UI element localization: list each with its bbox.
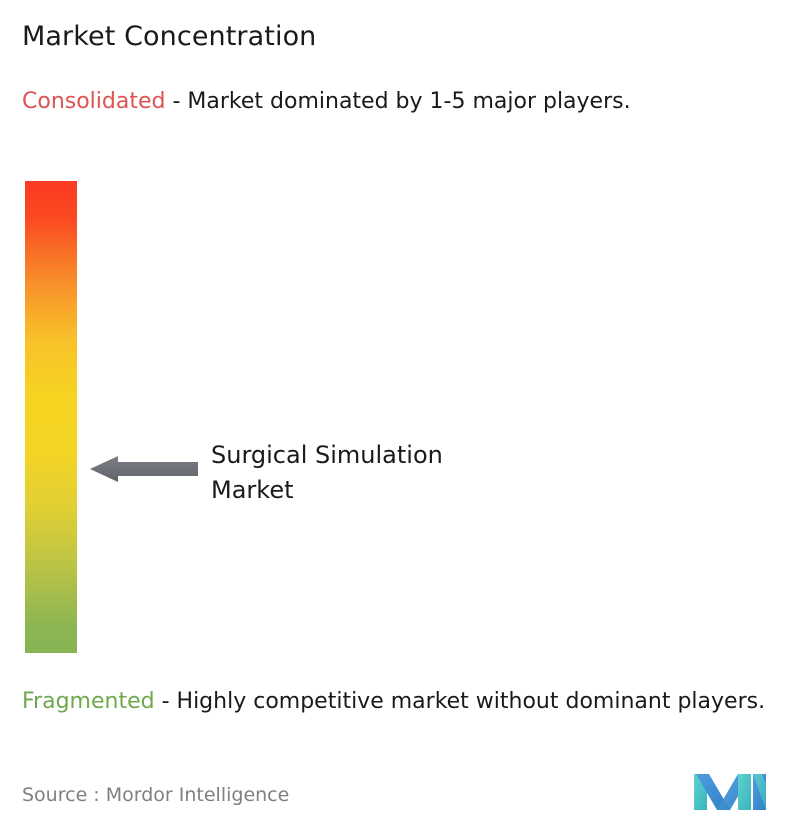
- legend-fragmented: Fragmented - Highly competitive market w…: [22, 686, 784, 717]
- legend-consolidated-description: Market dominated by 1-5 major players.: [187, 89, 630, 114]
- market-pointer: Surgical Simulation Market: [90, 438, 610, 518]
- mordor-intelligence-logo-icon: [694, 770, 766, 814]
- legend-fragmented-description: Highly competitive market without domina…: [177, 689, 766, 714]
- legend-consolidated-separator: -: [165, 89, 187, 114]
- page-title: Market Concentration: [22, 20, 316, 54]
- market-pointer-label: Surgical Simulation Market: [211, 438, 591, 508]
- concentration-gradient-bar: [25, 181, 77, 653]
- source-note: Source : Mordor Intelligence: [22, 782, 289, 808]
- legend-consolidated-keyword: Consolidated: [22, 89, 165, 114]
- legend-fragmented-keyword: Fragmented: [22, 689, 155, 714]
- legend-fragmented-separator: -: [155, 689, 177, 714]
- left-arrow-icon: [90, 456, 198, 482]
- legend-consolidated: Consolidated - Market dominated by 1-5 m…: [22, 86, 762, 117]
